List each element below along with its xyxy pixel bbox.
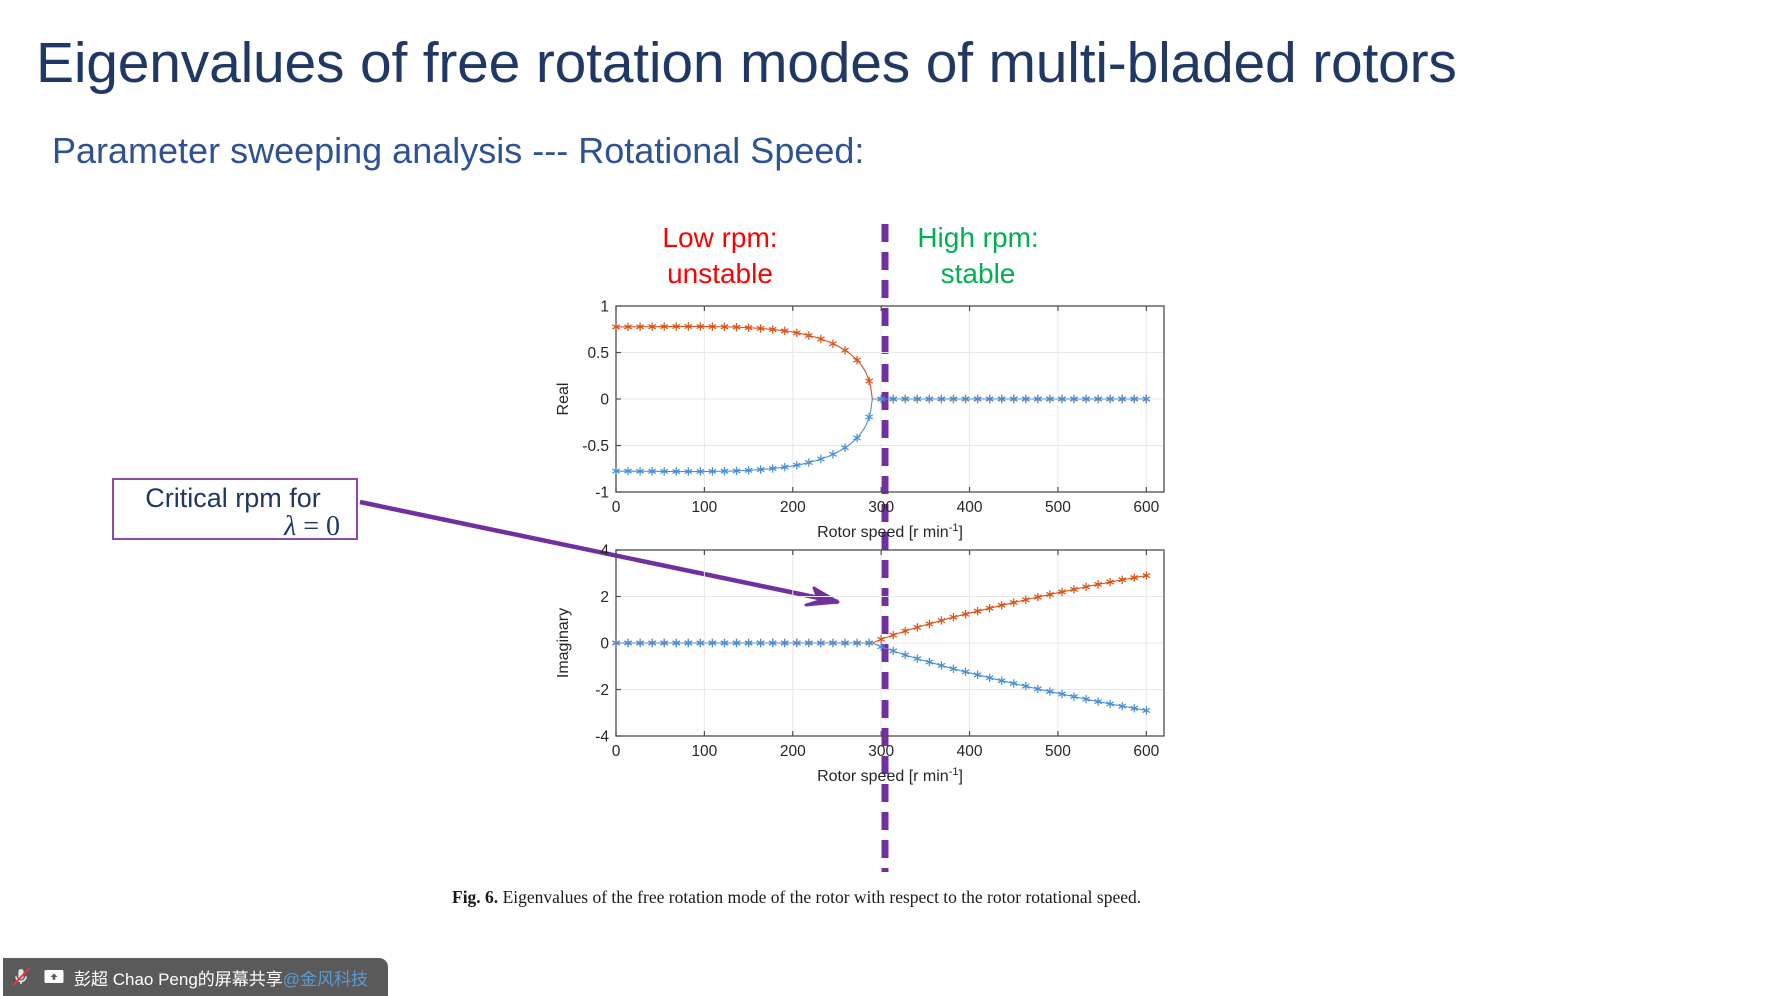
y-tick-label: 4 xyxy=(600,543,609,560)
x-tick-label: 400 xyxy=(957,499,983,516)
eigenvalue-figure: 0100200300400500600-1-0.500.51RealRotor … xyxy=(440,288,1200,848)
sharer-name: 彭超 Chao Peng的屏幕共享 xyxy=(74,970,283,989)
x-axis-label: Rotor speed [r min-1] xyxy=(817,766,963,785)
figure-caption: Fig. 6. Eigenvalues of the free rotation… xyxy=(452,886,1152,909)
slide-canvas: Eigenvalues of free rotation modes of mu… xyxy=(0,0,1768,996)
x-tick-label: 400 xyxy=(957,743,983,760)
x-tick-label: 100 xyxy=(691,743,717,760)
y-tick-label: 0.5 xyxy=(587,345,609,362)
figure-caption-text: Eigenvalues of the free rotation mode of… xyxy=(503,887,1142,907)
x-tick-label: 200 xyxy=(780,743,806,760)
y-tick-label: -2 xyxy=(595,682,609,699)
y-axis-label: Real xyxy=(555,383,572,416)
taskbar-left-edge xyxy=(0,958,3,996)
y-tick-label: 0 xyxy=(600,392,609,409)
y-tick-label: -4 xyxy=(595,729,609,746)
page-subtitle: Parameter sweeping analysis --- Rotation… xyxy=(52,130,864,172)
lambda-equation: = 0 xyxy=(303,511,340,542)
y-tick-label: 0 xyxy=(600,636,609,653)
x-tick-label: 0 xyxy=(612,499,621,516)
screen-share-icon[interactable] xyxy=(41,964,67,990)
imaginary-part-chart: 0100200300400500600-4-2024ImaginaryRotor… xyxy=(555,543,1164,786)
y-axis-label: Imaginary xyxy=(555,608,572,678)
callout-text-line2: λ = 0 xyxy=(120,512,346,541)
x-tick-label: 500 xyxy=(1045,499,1071,516)
lambda-symbol: λ xyxy=(284,511,296,542)
critical-rpm-callout: Critical rpm for λ = 0 xyxy=(112,478,358,540)
y-tick-label: -1 xyxy=(595,485,609,502)
x-tick-label: 100 xyxy=(691,499,717,516)
y-tick-label: -0.5 xyxy=(582,438,609,455)
high-rpm-label-line1: High rpm: xyxy=(878,220,1078,256)
screen-share-taskbar[interactable]: 彭超 Chao Peng的屏幕共享@金风科技 xyxy=(0,958,388,996)
x-tick-label: 200 xyxy=(780,499,806,516)
x-tick-label: 300 xyxy=(868,499,894,516)
callout-text-line1: Critical rpm for xyxy=(120,484,346,512)
x-axis-label: Rotor speed [r min-1] xyxy=(817,522,963,541)
x-tick-label: 600 xyxy=(1133,499,1159,516)
high-rpm-label: High rpm: stable xyxy=(878,220,1078,293)
page-title: Eigenvalues of free rotation modes of mu… xyxy=(36,34,1457,94)
sharer-handle: @金风科技 xyxy=(283,970,368,989)
low-rpm-label: Low rpm: unstable xyxy=(620,220,820,293)
low-rpm-label-line1: Low rpm: xyxy=(620,220,820,256)
x-tick-label: 0 xyxy=(612,743,621,760)
x-tick-label: 500 xyxy=(1045,743,1071,760)
x-tick-label: 600 xyxy=(1133,743,1159,760)
y-tick-label: 1 xyxy=(600,299,609,316)
microphone-muted-icon[interactable] xyxy=(8,964,34,990)
real-part-chart: 0100200300400500600-1-0.500.51RealRotor … xyxy=(555,299,1164,542)
figure-caption-label: Fig. 6. xyxy=(452,887,498,907)
y-tick-label: 2 xyxy=(600,589,609,606)
x-tick-label: 300 xyxy=(868,743,894,760)
screen-share-status-text: 彭超 Chao Peng的屏幕共享@金风科技 xyxy=(74,965,368,990)
